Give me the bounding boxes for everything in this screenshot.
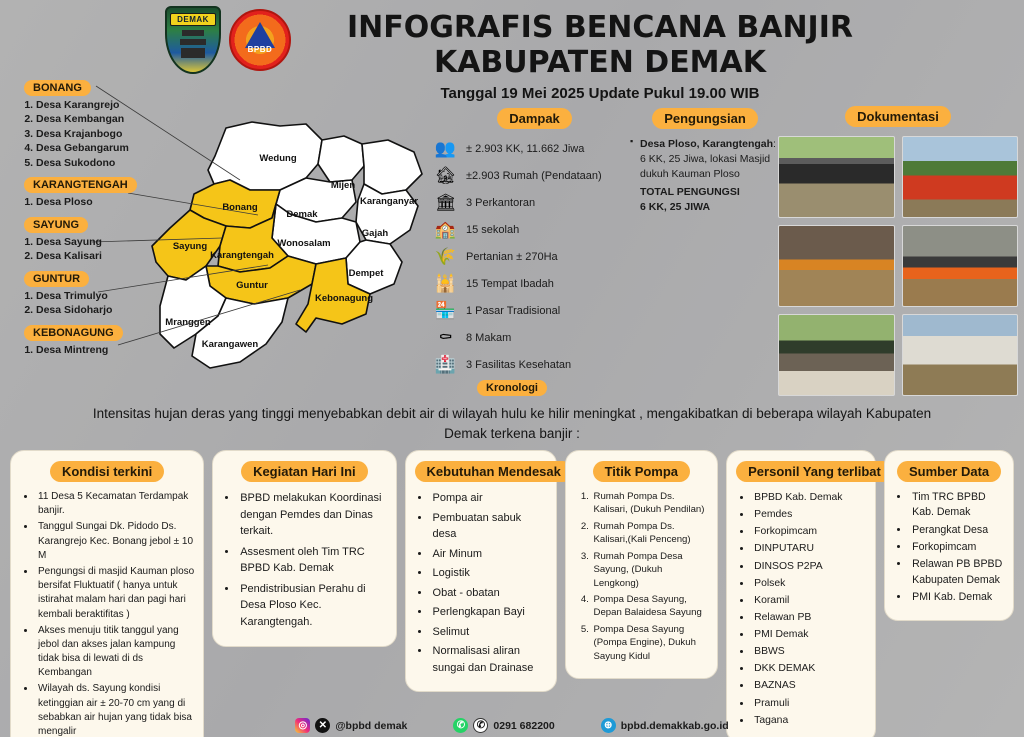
village-item: Desa Krajanbogo (36, 127, 164, 141)
card-title-badge: Titik Pompa (593, 461, 690, 482)
card-list: BPBD Kab. Demak Pemdes Forkopimcam DINPU… (752, 490, 866, 729)
demak-shield-icon: DEMAK (165, 6, 221, 74)
contact-footer: ◎ ✕ @bpbd demak ✆ ✆ 0291 682200 ⊕ bpbd.d… (0, 718, 1024, 733)
school-icon: 🏫 (432, 218, 459, 242)
list-item: PMI Demak (752, 627, 866, 643)
impact-list: 👥 ± 2.903 KK, 11.662 Jiwa 🏚 ±2.903 Rumah… (432, 135, 637, 378)
card-titik-pompa: Titik Pompa Rumah Pompa Ds. Kalisari, (D… (565, 450, 719, 679)
documentation-title-badge: Dokumentasi (845, 106, 951, 127)
list-item: Relawan PB BPBD Kabupaten Demak (910, 557, 1004, 588)
phone-contact[interactable]: ✆ ✆ 0291 682200 (453, 718, 554, 733)
village-item: Desa Trimulyo (36, 289, 164, 303)
svg-text:Kebonagung: Kebonagung (315, 293, 373, 304)
chronology-text: Intensitas hujan deras yang tinggi menye… (0, 404, 1024, 445)
list-item: Assesment oleh Tim TRC BPBD Kab. Demak (238, 544, 386, 577)
svg-text:Karangtengah: Karangtengah (210, 250, 274, 261)
impact-row: 🏛 3 Perkantoran (432, 189, 637, 216)
list-item: Perlengkapan Bayi (431, 604, 547, 621)
impact-value: ±2.903 Rumah (Pendataan) (466, 170, 602, 182)
photo-officer-in-flooded-village (778, 225, 895, 307)
grave-icon: ⚰ (432, 326, 459, 350)
village-item: Desa Mintreng (36, 343, 164, 357)
impact-value: Pertanian ± 270Ha (466, 251, 558, 263)
impact-row: ⚰ 8 Makam (432, 324, 637, 351)
house-flood-icon: 🏚 (432, 164, 459, 188)
list-item: Akses menuju titik tanggul yang jebol da… (36, 624, 194, 681)
card-header: Kebutuhan Mendesak (415, 461, 547, 482)
list-item: Pengungsi di masjid Kauman ploso bersifa… (36, 565, 194, 622)
list-item: DKK DEMAK (752, 661, 866, 677)
card-title-badge: Personil Yang terlibat (736, 461, 893, 482)
village-list: Desa Ploso (36, 195, 164, 209)
list-item: Pramuli (752, 696, 866, 712)
social-contact[interactable]: ◎ ✕ @bpbd demak (295, 718, 407, 733)
svg-text:Mijen: Mijen (331, 180, 355, 191)
card-title-badge: Kebutuhan Mendesak (415, 461, 573, 482)
svg-text:Guntur: Guntur (236, 280, 268, 291)
bpbd-logo-text: BPBD (248, 45, 273, 54)
list-item: Koramil (752, 593, 866, 609)
impact-row: 🏥 3 Fasilitas Kesehatan (432, 351, 637, 378)
list-item: PMI Kab. Demak (910, 590, 1004, 605)
list-item: Rumah Pompa Ds. Kalisari, (Dukuh Pendila… (592, 490, 709, 517)
list-item: Forkopimcam (910, 540, 1004, 555)
list-item: BPBD Kab. Demak (752, 490, 866, 506)
list-item: Obat - obatan (431, 585, 547, 602)
impact-value: 15 sekolah (466, 224, 519, 236)
office-icon: 🏛 (432, 191, 459, 215)
kecamatan-badge: GUNTUR (24, 271, 89, 287)
list-item: Pompa Desa Sayung, Depan Balaidesa Sayun… (592, 593, 709, 620)
impact-row: 👥 ± 2.903 KK, 11.662 Jiwa (432, 135, 637, 162)
impact-row: 🏚 ±2.903 Rumah (Pendataan) (432, 162, 637, 189)
map-svg: Wedung Mijen Karanganyar Bonang Demak Ga… (130, 118, 435, 383)
card-header: Personil Yang terlibat (736, 461, 866, 482)
impact-value: ± 2.903 KK, 11.662 Jiwa (466, 143, 584, 155)
evacuation-total-value: 6 KK, 25 JIWA (640, 200, 780, 215)
village-list: Desa Trimulyo Desa Sidoharjo (36, 289, 164, 318)
impact-value: 15 Tempat Ibadah (466, 278, 554, 290)
kecamatan-badge: SAYUNG (24, 217, 88, 233)
village-item: Desa Kembangan (36, 112, 164, 126)
kecamatan-badge: KARANGTENGAH (24, 177, 137, 193)
card-header: Sumber Data (894, 461, 1004, 482)
list-item: Pemdes (752, 507, 866, 523)
list-item: BPBD melakukan Koordinasi dengan Pemdes … (238, 490, 386, 540)
village-list: Desa Karangrejo Desa Kembangan Desa Kraj… (36, 98, 164, 170)
evacuation-panel: Pengungsian Desa Ploso, Karangtengah: 6 … (630, 108, 780, 215)
list-item: Air Minum (431, 546, 547, 563)
list-item: Polsek (752, 576, 866, 592)
svg-text:Bonang: Bonang (222, 202, 258, 213)
list-item: Pompa air (431, 490, 547, 507)
demak-district-map: Wedung Mijen Karanganyar Bonang Demak Ga… (130, 118, 435, 383)
photo-car-in-flooded-street (778, 136, 895, 218)
photo-rescue-team-with-boat (902, 225, 1019, 307)
page-subtitle: Tanggal 19 Mei 2025 Update Pukul 19.00 W… (290, 85, 910, 102)
village-item: Desa Karangrejo (36, 98, 164, 112)
affected-villages-panel: BONANG Desa Karangrejo Desa Kembangan De… (14, 78, 164, 362)
evacuation-village-line2: Karangtengah (702, 138, 773, 150)
hospital-icon: 🏥 (432, 353, 459, 377)
map-area-mijen (318, 136, 364, 182)
list-item: Rumah Pompa Ds. Kalisari,(Kali Penceng) (592, 520, 709, 547)
documentation-panel: Dokumentasi (778, 106, 1018, 396)
card-list: 11 Desa 5 Kecamatan Terdampak banjir. Ta… (36, 490, 194, 737)
whatsapp-icon[interactable]: ✆ (453, 718, 468, 733)
svg-text:Mranggen: Mranggen (165, 317, 211, 328)
list-item: Normalisasi aliran sungai dan Drainase (431, 643, 547, 676)
svg-text:Demak: Demak (286, 209, 318, 220)
village-item: Desa Gebangarum (36, 141, 164, 155)
website-url: bpbd.demakkab.go.id (621, 720, 729, 732)
list-item: DINSOS P2PA (752, 559, 866, 575)
list-item: Pembuatan sabuk desa (431, 510, 547, 543)
mosque-tower-icon (180, 30, 206, 60)
card-kegiatan-hari-ini: Kegiatan Hari Ini BPBD melakukan Koordin… (212, 450, 396, 647)
chronology-section: Kronologi Intensitas hujan deras yang ti… (0, 378, 1024, 445)
documentation-header: Dokumentasi (778, 106, 1018, 127)
card-title-badge: Sumber Data (897, 461, 1001, 482)
mosque-icon: 🕌 (432, 272, 459, 296)
svg-text:Karanganyar: Karanganyar (360, 196, 418, 207)
card-list: Pompa air Pembuatan sabuk desa Air Minum… (431, 490, 547, 676)
card-title-badge: Kondisi terkini (50, 461, 164, 482)
page-title-line2: KABUPATEN DEMAK (290, 45, 910, 80)
card-list: BPBD melakukan Koordinasi dengan Pemdes … (238, 490, 386, 630)
list-item: Pendistribusian Perahu di Desa Ploso Kec… (238, 581, 386, 631)
market-icon: 🏪 (432, 299, 459, 323)
village-item: Desa Sidoharjo (36, 303, 164, 317)
svg-text:Dempet: Dempet (349, 268, 385, 279)
globe-icon[interactable]: ⊕ (601, 718, 616, 733)
map-area-dempet (346, 240, 402, 294)
list-item: BAZNAS (752, 678, 866, 694)
kecamatan-badge: BONANG (24, 80, 91, 96)
list-item: Logistik (431, 565, 547, 582)
list-item: Selimut (431, 624, 547, 641)
list-item: Rumah Pompa Desa Sayung, (Dukuh Lengkong… (592, 550, 709, 590)
impact-row: 🕌 15 Tempat Ibadah (432, 270, 637, 297)
demak-regency-logo: DEMAK (165, 6, 221, 74)
impact-row: 🏪 1 Pasar Tradisional (432, 297, 637, 324)
village-group-karangtengah: KARANGTENGAH Desa Ploso (14, 175, 164, 209)
list-item: Perangkat Desa (910, 523, 1004, 538)
impact-row: 🏫 15 sekolah (432, 216, 637, 243)
demak-logo-text: DEMAK (170, 13, 216, 26)
photo-excavator-on-embankment (902, 136, 1019, 218)
social-handle: @bpbd demak (335, 720, 407, 732)
impact-value: 3 Perkantoran (466, 197, 535, 209)
village-item: Desa Kalisari (36, 249, 164, 263)
village-item: Desa Sayung (36, 235, 164, 249)
impact-title-badge: Dampak (497, 108, 572, 129)
info-cards-row: Kondisi terkini 11 Desa 5 Kecamatan Terd… (0, 450, 1024, 737)
farm-icon: 🌾 (432, 245, 459, 269)
card-list: Rumah Pompa Ds. Kalisari, (Dukuh Pendila… (592, 490, 709, 663)
kecamatan-badge: KEBONAGUNG (24, 325, 123, 341)
phone-icon[interactable]: ✆ (473, 718, 488, 733)
list-item: Pompa Desa Sayung (Pompa Engine), Dukuh … (592, 623, 709, 663)
x-twitter-icon[interactable]: ✕ (315, 718, 330, 733)
list-item: Forkopimcam (752, 524, 866, 540)
list-item: BBWS (752, 644, 866, 660)
village-group-guntur: GUNTUR Desa Trimulyo Desa Sidoharjo (14, 269, 164, 318)
website-contact[interactable]: ⊕ bpbd.demakkab.go.id (601, 718, 729, 733)
card-personil-yang-terlibat: Personil Yang terlibat BPBD Kab. Demak P… (726, 450, 876, 737)
evacuation-header: Pengungsian (630, 108, 780, 129)
card-kondisi-terkini: Kondisi terkini 11 Desa 5 Kecamatan Terd… (10, 450, 204, 737)
people-icon: 👥 (432, 137, 459, 161)
documentation-photo-grid (778, 136, 1018, 396)
impact-row: 🌾 Pertanian ± 270Ha (432, 243, 637, 270)
list-item: DINPUTARU (752, 541, 866, 557)
village-group-bonang: BONANG Desa Karangrejo Desa Kembangan De… (14, 78, 164, 170)
village-list: Desa Sayung Desa Kalisari (36, 235, 164, 264)
svg-text:Sayung: Sayung (173, 241, 208, 252)
village-group-sayung: SAYUNG Desa Sayung Desa Kalisari (14, 215, 164, 264)
card-header: Kegiatan Hari Ini (222, 461, 386, 482)
svg-text:Karangawen: Karangawen (202, 339, 259, 350)
list-item: 11 Desa 5 Kecamatan Terdampak banjir. (36, 490, 194, 518)
page-title-line1: INFOGRAFIS BENCANA BANJIR (290, 10, 910, 45)
list-item: Tim TRC BPBD Kab. Demak (910, 490, 1004, 521)
card-title-badge: Kegiatan Hari Ini (241, 461, 368, 482)
svg-text:Wedung: Wedung (259, 153, 296, 164)
evacuation-detail: Desa Ploso, Karangtengah: 6 KK, 25 Jiwa,… (630, 137, 780, 215)
bpbd-logo: BPBD (229, 9, 291, 71)
village-group-kebonagung: KEBONAGUNG Desa Mintreng (14, 323, 164, 357)
list-item: Relawan PB (752, 610, 866, 626)
list-item: Tanggul Sungai Dk. Pidodo Ds. Karangrejo… (36, 520, 194, 563)
logo-group: DEMAK BPBD (165, 6, 291, 74)
impact-value: 1 Pasar Tradisional (466, 305, 560, 317)
evacuation-title-badge: Pengungsian (652, 108, 758, 129)
impact-header: Dampak (432, 108, 637, 129)
card-header: Titik Pompa (575, 461, 709, 482)
title-block: INFOGRAFIS BENCANA BANJIR KABUPATEN DEMA… (290, 10, 910, 102)
phone-number: 0291 682200 (493, 720, 554, 732)
card-sumber-data: Sumber Data Tim TRC BPBD Kab. Demak Pera… (884, 450, 1014, 621)
instagram-icon[interactable]: ◎ (295, 718, 310, 733)
evacuation-village-line1: Desa Ploso, (640, 138, 700, 150)
card-list: Tim TRC BPBD Kab. Demak Perangkat Desa F… (910, 490, 1004, 606)
svg-text:Gajah: Gajah (362, 228, 389, 239)
village-list: Desa Mintreng (36, 343, 164, 357)
map-area-karanganyar (362, 140, 422, 194)
impact-value: 3 Fasilitas Kesehatan (466, 359, 571, 371)
evacuation-total-label: TOTAL PENGUNGSI (640, 185, 780, 200)
chronology-title-badge: Kronologi (477, 380, 547, 396)
impact-value: 8 Makam (466, 332, 511, 344)
village-item: Desa Sukodono (36, 156, 164, 170)
impact-panel: Dampak 👥 ± 2.903 KK, 11.662 Jiwa 🏚 ±2.90… (432, 108, 637, 378)
card-kebutuhan-mendesak: Kebutuhan Mendesak Pompa air Pembuatan s… (405, 450, 557, 692)
svg-text:Wonosalam: Wonosalam (277, 238, 330, 249)
village-item: Desa Ploso (36, 195, 164, 209)
card-header: Kondisi terkini (20, 461, 194, 482)
